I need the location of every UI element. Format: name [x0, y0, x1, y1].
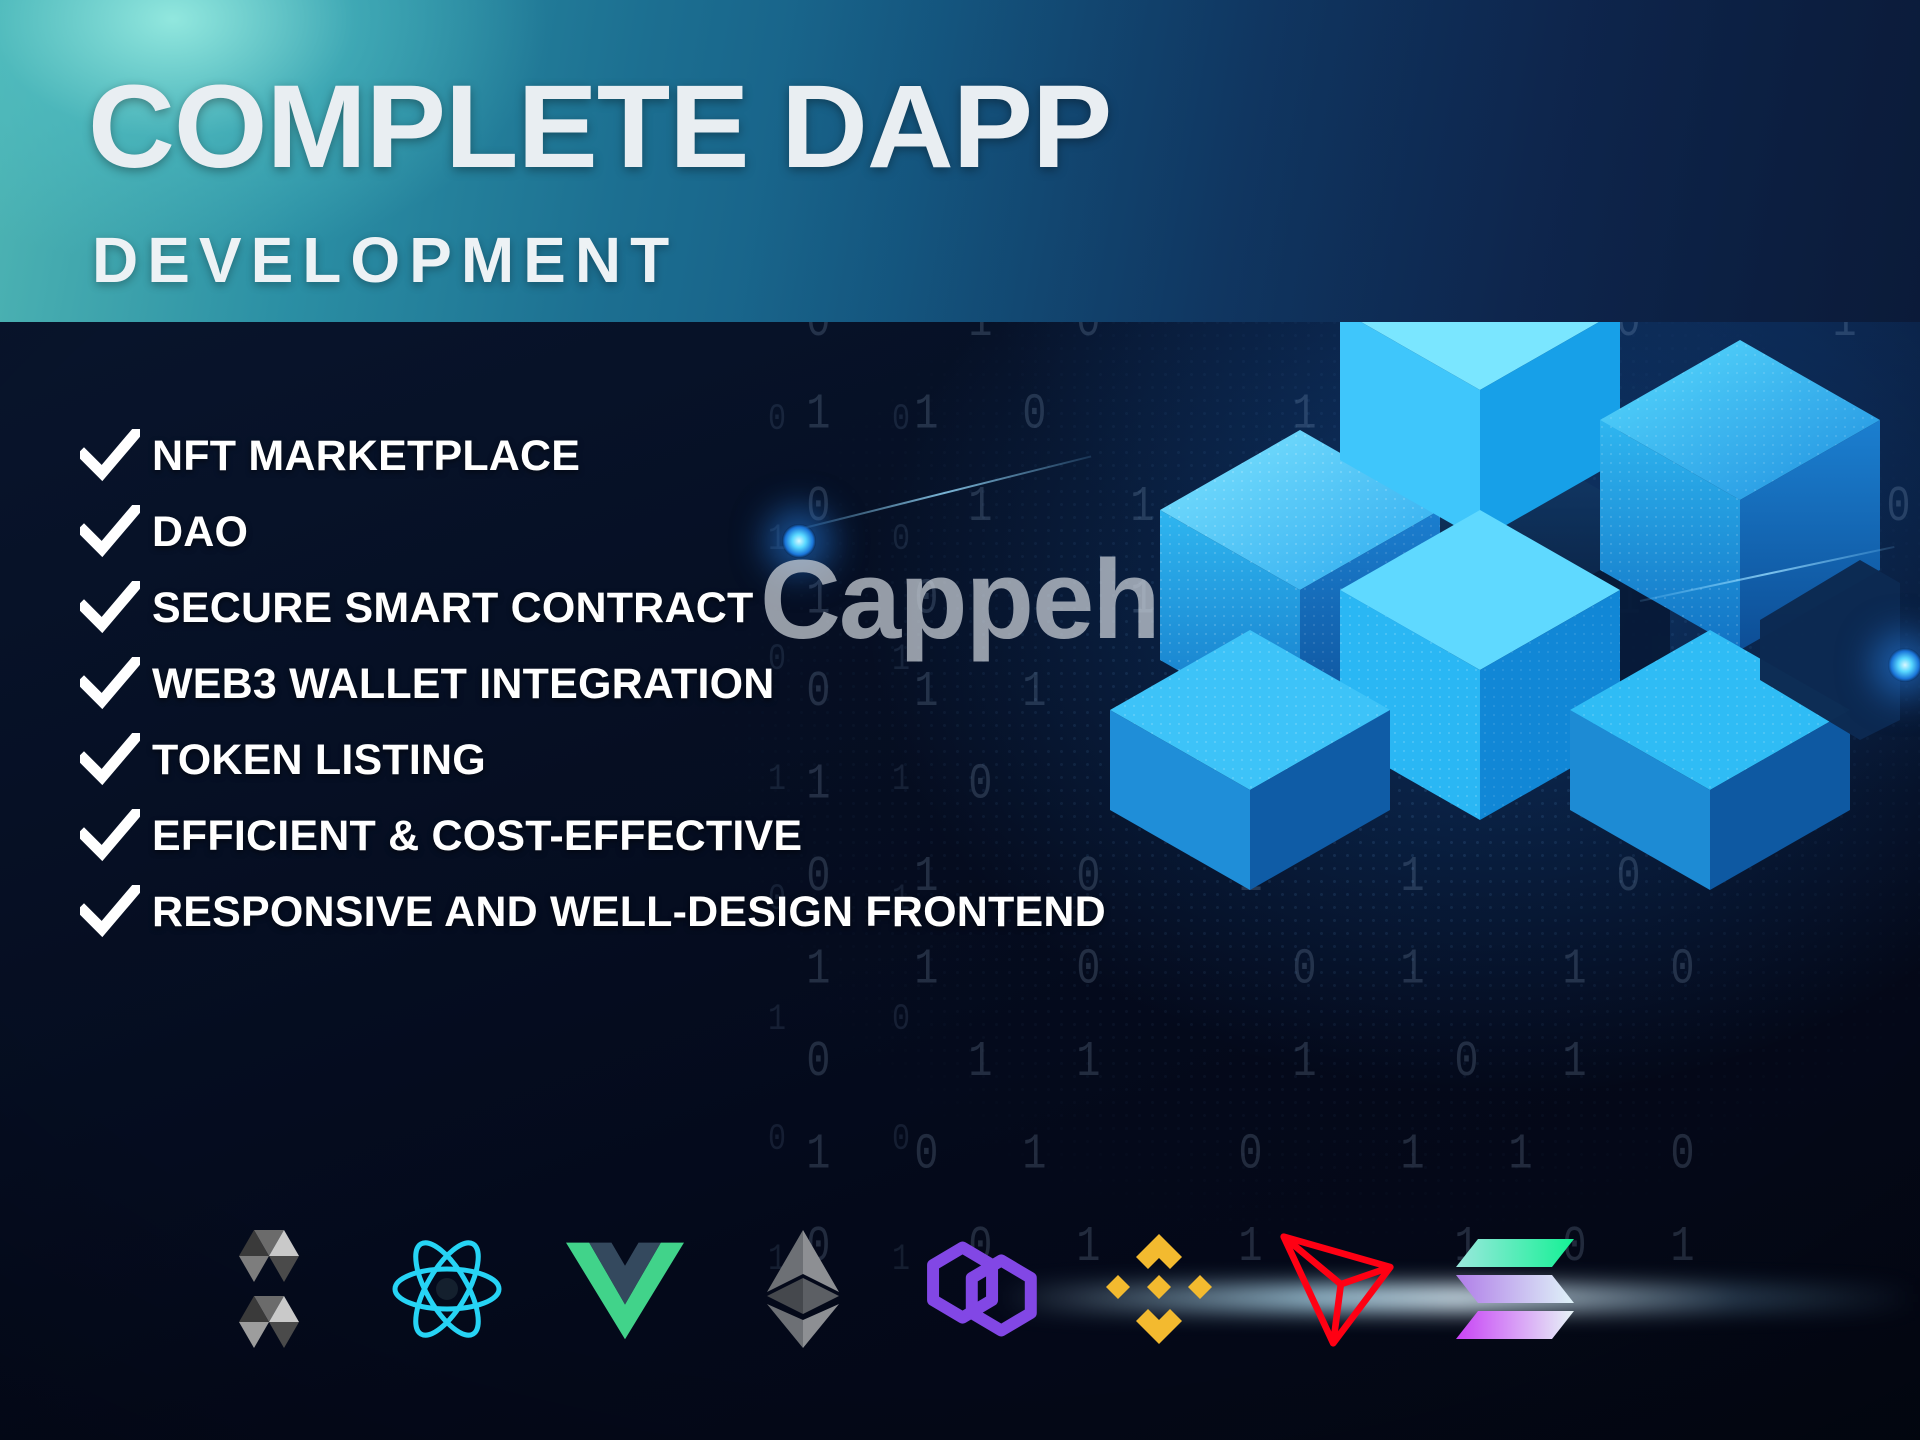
tech-logo-row [210, 1230, 1574, 1348]
feature-item: DAO [80, 494, 1106, 570]
feature-item: RESPONSIVE AND WELL-DESIGN FRONTEND [80, 874, 1106, 950]
check-icon [80, 733, 152, 787]
page-title: COMPLETE DAPP [88, 68, 1111, 186]
solana-icon [1456, 1230, 1574, 1348]
page-subtitle: DEVELOPMENT [92, 228, 678, 292]
react-icon [388, 1230, 506, 1348]
check-icon [80, 581, 152, 635]
solidity-icon [210, 1230, 328, 1348]
check-icon [80, 429, 152, 483]
feature-list: NFT MARKETPLACE DAO SECURE SMART CONTRAC… [80, 418, 1106, 950]
feature-item: TOKEN LISTING [80, 722, 1106, 798]
check-icon [80, 809, 152, 863]
feature-label: TOKEN LISTING [152, 736, 486, 785]
ethereum-icon [744, 1230, 862, 1348]
feature-item: EFFICIENT & COST-EFFECTIVE [80, 798, 1106, 874]
feature-label: WEB3 WALLET INTEGRATION [152, 660, 775, 709]
feature-label: EFFICIENT & COST-EFFECTIVE [152, 812, 802, 861]
feature-label: RESPONSIVE AND WELL-DESIGN FRONTEND [152, 888, 1106, 937]
feature-label: NFT MARKETPLACE [152, 432, 580, 481]
vue-icon [566, 1230, 684, 1348]
feature-item: NFT MARKETPLACE [80, 418, 1106, 494]
check-icon [80, 885, 152, 939]
feature-label: DAO [152, 508, 248, 557]
header-band: COMPLETE DAPP DEVELOPMENT [0, 0, 1920, 322]
check-icon [80, 657, 152, 711]
binance-icon [1100, 1230, 1218, 1348]
feature-item: SECURE SMART CONTRACT [80, 570, 1106, 646]
polygon-icon [922, 1230, 1040, 1348]
check-icon [80, 505, 152, 559]
feature-label: SECURE SMART CONTRACT [152, 584, 753, 633]
feature-item: WEB3 WALLET INTEGRATION [80, 646, 1106, 722]
promo-poster: 0 1 0 1 1 1 0 1 0 1 0 1 1 1 1 0 1 1 1 0 … [0, 0, 1920, 1440]
tron-icon [1278, 1230, 1396, 1348]
